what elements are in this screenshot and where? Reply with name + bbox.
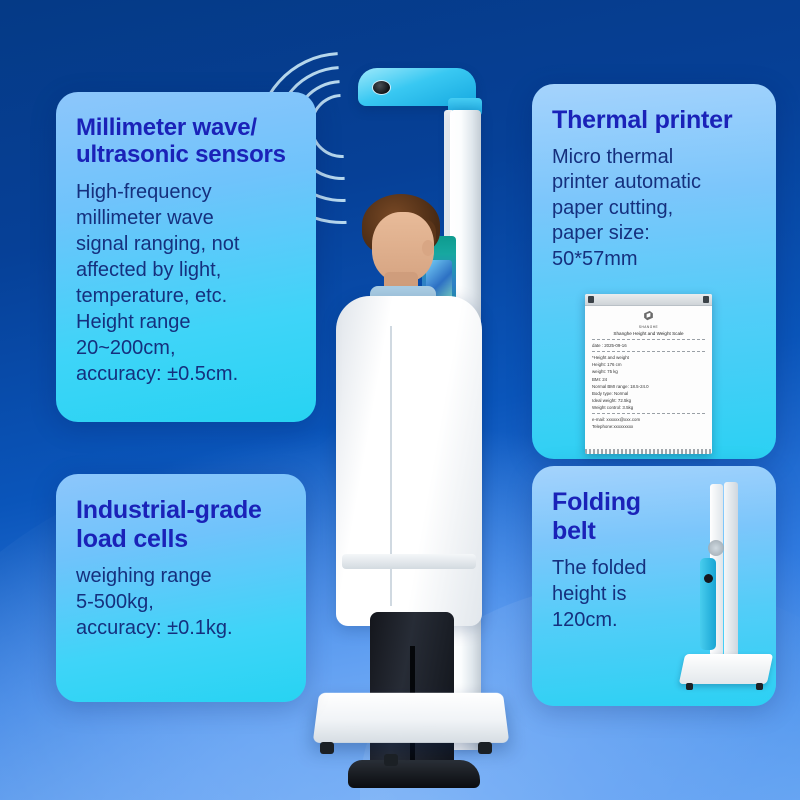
card-title-load-cells: Industrial-grade load cells [76, 496, 286, 553]
sensor-lens-icon [372, 80, 391, 95]
folded-scale-unit [680, 482, 772, 690]
card-body-sensors: High-frequency millimeter wave signal ra… [76, 179, 296, 387]
receipt-measurement-lines: Height: 176 cmweight: 75 kgBMI: 24Normal… [592, 361, 705, 411]
person-shoe-right [396, 760, 480, 788]
feature-card-load-cells: Industrial-grade load cells weighing ran… [56, 474, 306, 702]
receipt-contact-lines: e-mail: xxxxxx@xxx.comTelephone:xxxxxxxx… [592, 416, 705, 430]
receipt-line: Body type: Normal [592, 390, 705, 397]
receipt-contact-line: Telephone:xxxxxxxxx [592, 423, 705, 430]
folded-foot-left [686, 683, 693, 690]
receipt-line: Normal BMI range: 18.5-24.0 [592, 383, 705, 390]
shanghe-logo-icon [641, 309, 656, 324]
folded-column-b [724, 482, 738, 658]
lab-coat-belt [342, 554, 476, 569]
card-body-load-cells: weighing range 5-500kg, accuracy: ±0.1kg… [76, 563, 286, 641]
card-title-sensors: Millimeter wave/ ultrasonic sensors [76, 114, 296, 169]
infographic-canvas: Millimeter wave/ ultrasonic sensors High… [0, 0, 800, 800]
printed-receipt: SHANGHE Shanghe Height and Weight Scale … [585, 294, 712, 454]
receipt-section-title: *Height and weight [592, 354, 705, 361]
receipt-line: weight: 75 kg [592, 368, 705, 375]
receipt-line: Weight control: 3.5kg [592, 404, 705, 411]
receipt-line: Height: 176 cm [592, 361, 705, 368]
folded-belt-arm [700, 558, 716, 650]
person-ear [422, 240, 434, 256]
card-title-printer: Thermal printer [552, 106, 756, 135]
receipt-divider-1 [592, 339, 705, 340]
folded-sensor-lens-icon [704, 574, 713, 583]
receipt-contact-line: e-mail: xxxxxx@xxx.com [592, 416, 705, 423]
receipt-cut-edge [585, 449, 712, 454]
receipt-divider-3 [592, 413, 705, 414]
receipt-brand: SHANGHE [592, 325, 705, 329]
feature-card-sensors: Millimeter wave/ ultrasonic sensors High… [56, 92, 316, 422]
folded-foot-right [756, 683, 763, 690]
card-body-folding: The folded height is 120cm. [552, 555, 682, 633]
base-foot-front [384, 754, 398, 766]
feature-card-thermal-printer: Thermal printer Micro thermal printer au… [532, 84, 776, 459]
receipt-line: Ideal weight: 72.5kg [592, 397, 705, 404]
weighing-platform-base [313, 693, 510, 743]
receipt-line: BMI: 24 [592, 376, 705, 383]
folded-platform-base [679, 654, 773, 684]
feature-card-folding-belt: Folding belt The folded height is 120cm. [532, 466, 776, 706]
receipt-header: Shanghe Height and Weight Scale [592, 331, 705, 336]
base-foot-left [320, 742, 334, 754]
height-and-weight-scale-device [300, 58, 530, 778]
receipt-date: date : 2025-09-16 [592, 342, 705, 349]
receipt-divider-2 [592, 351, 705, 352]
card-body-printer: Micro thermal printer automatic paper cu… [552, 145, 756, 273]
folded-knob [708, 540, 724, 556]
person-lab-coat [336, 296, 482, 626]
base-foot-right [478, 742, 492, 754]
